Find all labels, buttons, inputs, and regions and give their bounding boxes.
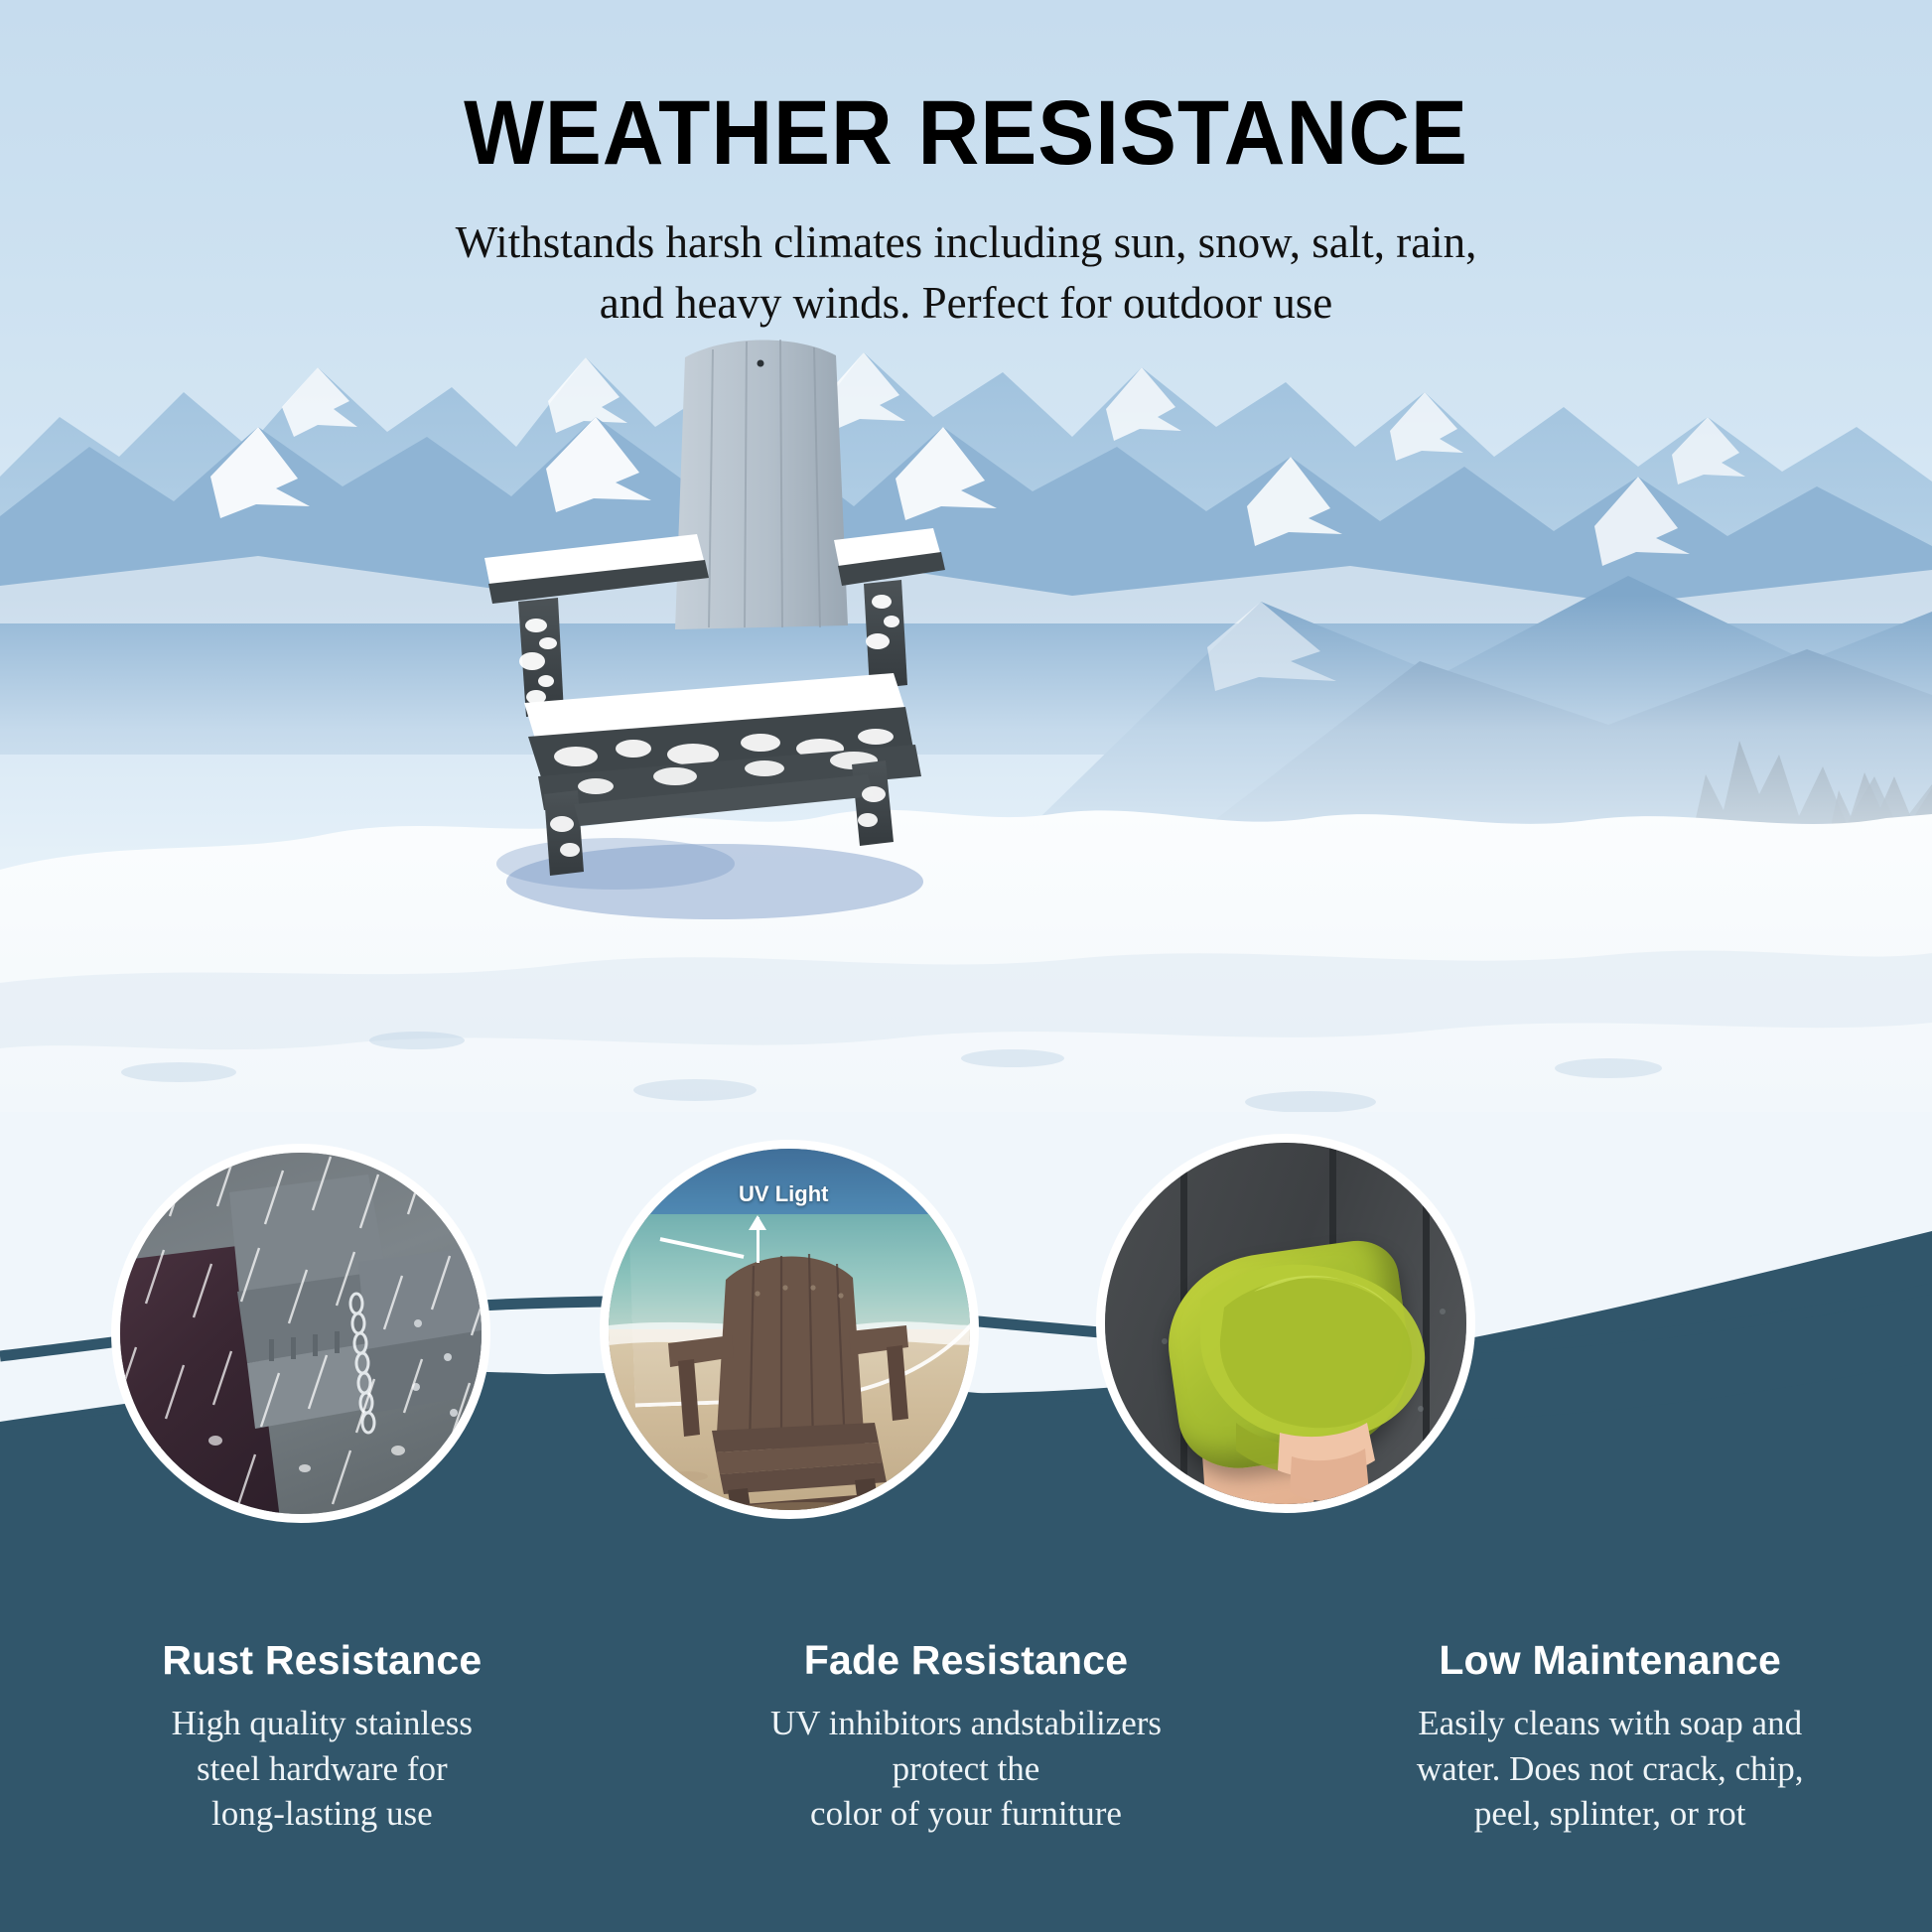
feature-desc-line-1: High quality stainless — [24, 1701, 621, 1746]
feature-image-low-maintenance[interactable] — [1096, 1134, 1475, 1513]
feature-title: Rust Resistance — [24, 1640, 621, 1681]
feature-desc-line-2: steel hardware for — [24, 1746, 621, 1792]
feature-title: Fade Resistance — [668, 1640, 1265, 1681]
feature-desc-line-2: water. Does not crack, chip, — [1311, 1746, 1908, 1792]
feature-desc-line-3: peel, splinter, or rot — [1311, 1791, 1908, 1837]
feature-description: High quality stainless steel hardware fo… — [24, 1701, 621, 1837]
feature-desc-line-3: long-lasting use — [24, 1791, 621, 1837]
feature-low-maintenance: Low Maintenance Easily cleans with soap … — [1288, 1640, 1932, 1837]
hero-subtitle: Withstands harsh climates including sun,… — [0, 212, 1932, 334]
feature-desc-line-1: UV inhibitors andstabilizers — [668, 1701, 1265, 1746]
feature-rust-resistance: Rust Resistance High quality stainless s… — [0, 1640, 644, 1837]
page-title: WEATHER RESISTANCE — [68, 87, 1864, 179]
feature-image-rust-resistance[interactable] — [111, 1144, 490, 1523]
hero-subtitle-line-2: and heavy winds. Perfect for outdoor use — [0, 273, 1932, 334]
feature-desc-line-2: protect the — [668, 1746, 1265, 1792]
feature-title: Low Maintenance — [1311, 1640, 1908, 1681]
feature-image-fade-resistance[interactable]: UV Light — [600, 1140, 979, 1519]
feature-fade-resistance: Fade Resistance UV inhibitors andstabili… — [644, 1640, 1289, 1837]
feature-desc-line-3: color of your furniture — [668, 1791, 1265, 1837]
hero-text-block: WEATHER RESISTANCE Withstands harsh clim… — [0, 0, 1932, 334]
snow-covered-adirondack-chair — [467, 328, 1062, 923]
feature-desc-line-1: Easily cleans with soap and — [1311, 1701, 1908, 1746]
product-feature-graphic: UV Light — [0, 0, 1932, 1932]
feature-text-row: Rust Resistance High quality stainless s… — [0, 1640, 1932, 1837]
feature-description: UV inhibitors andstabilizers protect the… — [668, 1701, 1265, 1837]
hero-subtitle-line-1: Withstands harsh climates including sun,… — [0, 212, 1932, 273]
uv-arrow-icon — [757, 1217, 759, 1263]
feature-description: Easily cleans with soap and water. Does … — [1311, 1701, 1908, 1837]
uv-light-label: UV Light — [739, 1181, 828, 1207]
